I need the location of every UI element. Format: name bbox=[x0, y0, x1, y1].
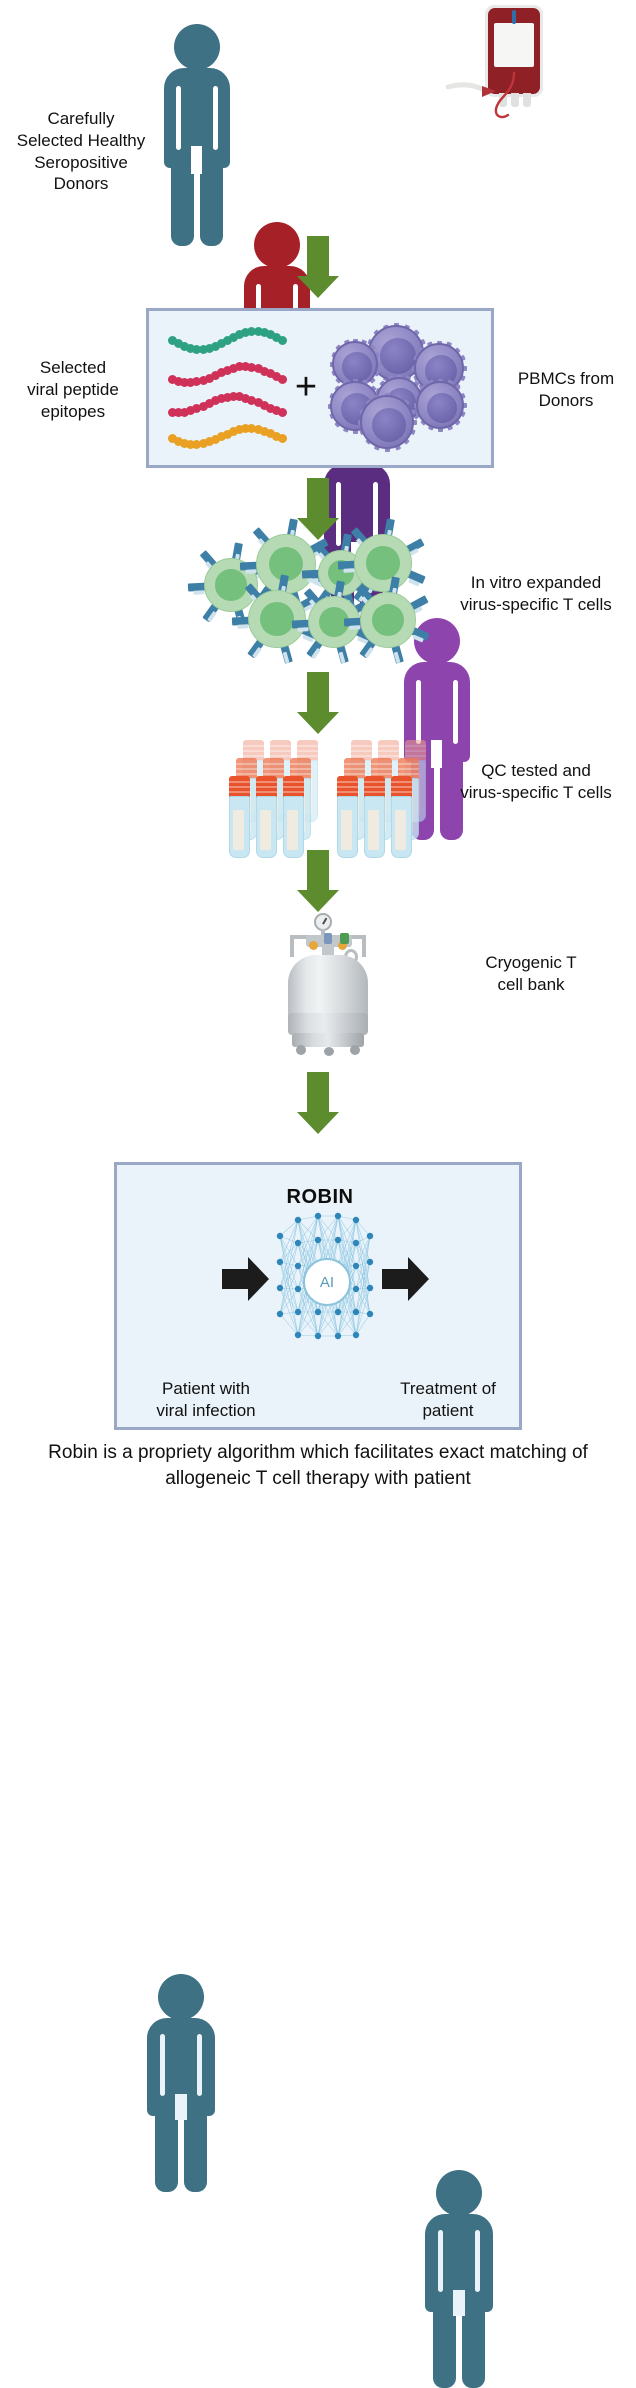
flow-arrow-3 bbox=[297, 672, 339, 734]
figure-canvas: Carefully Selected Healthy Seropositive … bbox=[0, 0, 636, 1510]
patient-figure-right bbox=[424, 2170, 494, 2366]
ai-node-label: AI bbox=[303, 1258, 351, 1306]
cryovial bbox=[282, 776, 306, 860]
patient-right-line-1: Treatment of bbox=[378, 1378, 518, 1400]
pbmc-label-line-1: PBMCs from bbox=[500, 368, 632, 390]
expansion-label-line-1: In vitro expanded bbox=[440, 572, 632, 594]
donor-figure-1 bbox=[163, 24, 231, 222]
plus-operator: + bbox=[290, 368, 322, 408]
peptide-epitopes-label: Selected viral peptide epitopes bbox=[6, 357, 140, 422]
patient-left-line-2: viral infection bbox=[126, 1400, 286, 1422]
patient-figure-left bbox=[146, 1974, 216, 2170]
cryovial bbox=[228, 776, 252, 860]
flow-arrow-black-2 bbox=[382, 1256, 430, 1302]
figure-caption: Robin is a propriety algorithm which fac… bbox=[20, 1440, 616, 1491]
qc-label-line-2: virus-specific T cells bbox=[440, 782, 632, 804]
qc-vials-group bbox=[228, 738, 428, 844]
flow-arrow-4 bbox=[297, 850, 339, 912]
cryovial bbox=[363, 776, 387, 860]
patient-right-label: Treatment of patient bbox=[378, 1378, 518, 1422]
donors-label-line-2: Selected Healthy bbox=[6, 130, 156, 152]
pbmc-donors-label: PBMCs from Donors bbox=[500, 368, 632, 412]
donors-label-line-3: Seropositive bbox=[6, 152, 156, 174]
cryogenic-tank-icon bbox=[278, 905, 378, 1060]
cryovial bbox=[390, 776, 414, 860]
peptide-label-line-3: epitopes bbox=[6, 401, 140, 423]
cryovial bbox=[336, 776, 360, 860]
peptide-label-line-1: Selected bbox=[6, 357, 140, 379]
blood-bag-icon bbox=[485, 5, 545, 115]
t-cell bbox=[360, 592, 416, 648]
peptide-label-line-2: viral peptide bbox=[6, 379, 140, 401]
patient-left-label: Patient with viral infection bbox=[126, 1378, 286, 1422]
peptide-beads bbox=[168, 328, 293, 453]
expansion-label-line-2: virus-specific T cells bbox=[440, 594, 632, 616]
donors-label-line-1: Carefully bbox=[6, 108, 156, 130]
flow-arrow-1 bbox=[297, 236, 339, 298]
patient-left-line-1: Patient with bbox=[126, 1378, 286, 1400]
in-vitro-expansion-label: In vitro expanded virus-specific T cells bbox=[440, 572, 632, 616]
t-cell bbox=[248, 590, 306, 648]
donors-label-line-4: Donors bbox=[6, 173, 156, 195]
expanded-tcells-group bbox=[204, 528, 426, 668]
t-cell bbox=[354, 534, 412, 592]
flow-arrow-black-1 bbox=[222, 1256, 270, 1302]
cryovial bbox=[255, 776, 279, 860]
cryobank-label-line-2: cell bank bbox=[440, 974, 622, 996]
pbmc-cell bbox=[360, 395, 414, 449]
donors-label: Carefully Selected Healthy Seropositive … bbox=[6, 108, 156, 195]
pbmc-cells-group bbox=[330, 325, 470, 453]
flow-arrow-5 bbox=[297, 1072, 339, 1134]
qc-label-line-1: QC tested and bbox=[440, 760, 632, 782]
pbmc-label-line-2: Donors bbox=[500, 390, 632, 412]
pbmc-cell bbox=[416, 381, 464, 429]
cryobank-label-line-1: Cryogenic T bbox=[440, 952, 622, 974]
robin-title: ROBIN bbox=[230, 1186, 410, 1209]
cryobank-label: Cryogenic T cell bank bbox=[440, 952, 622, 996]
patient-right-line-2: patient bbox=[378, 1400, 518, 1422]
qc-tested-label: QC tested and virus-specific T cells bbox=[440, 760, 632, 804]
